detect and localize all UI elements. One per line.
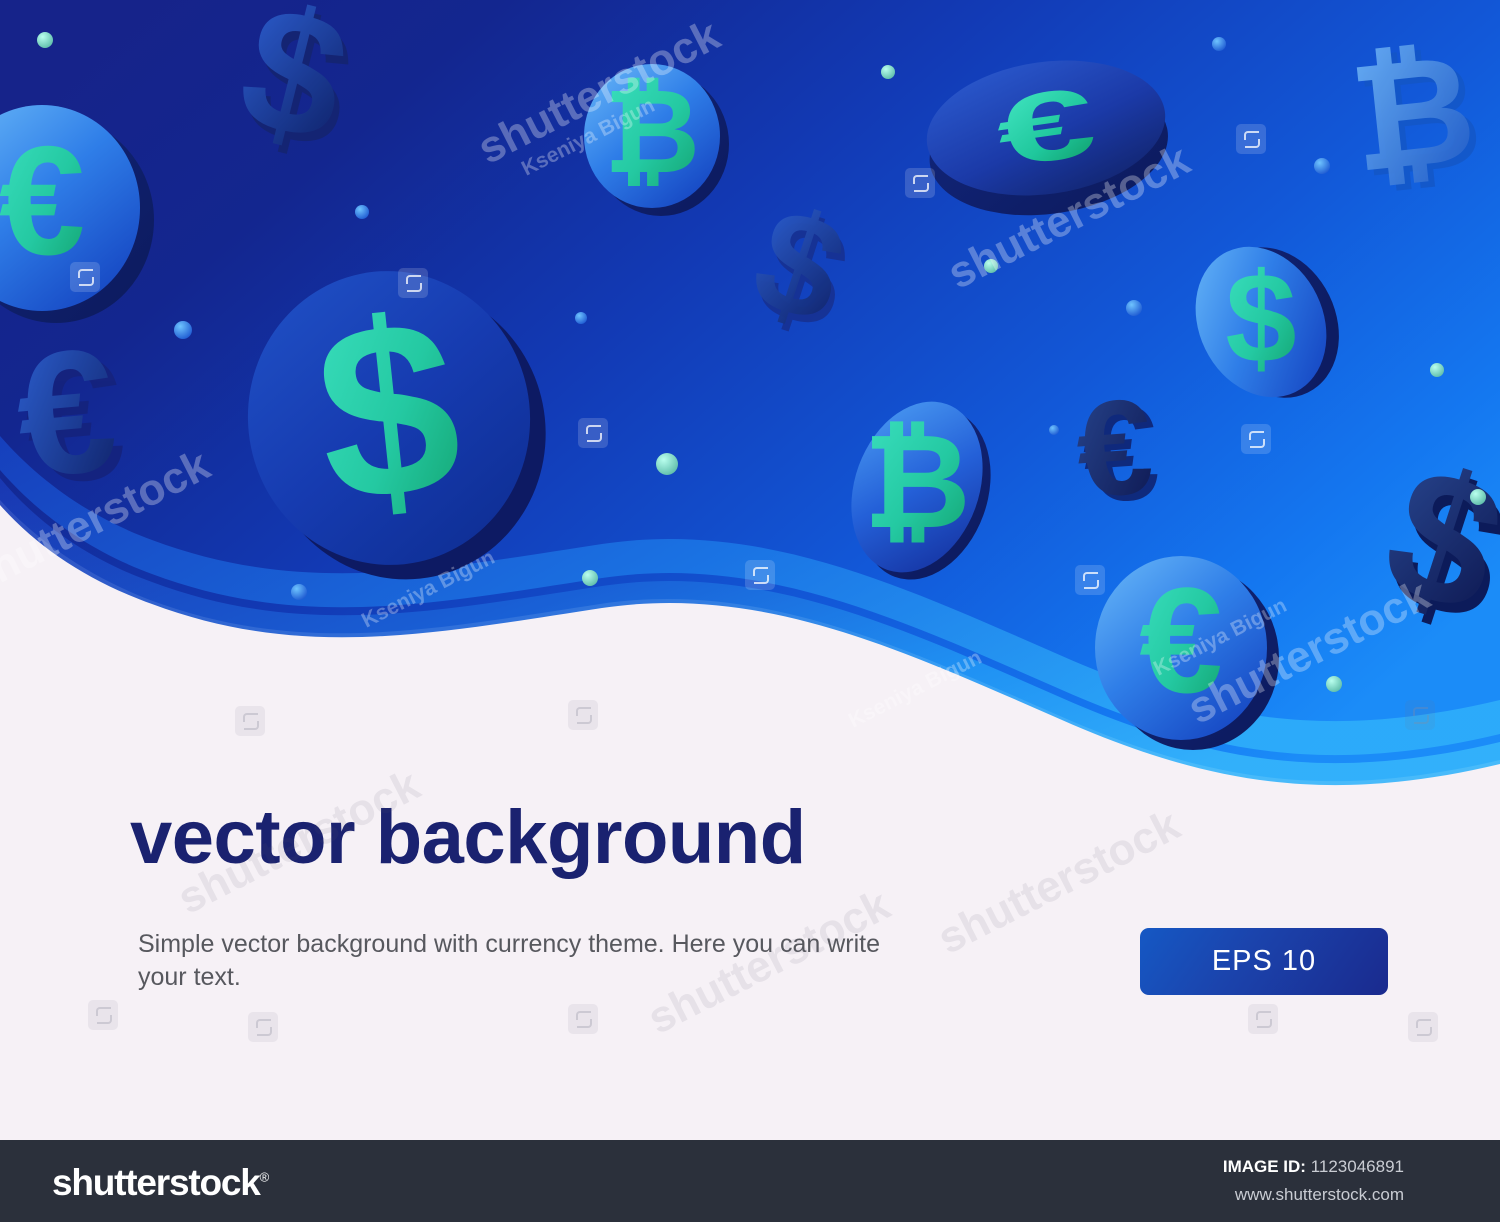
ghost-bitcoin-top-right: ₿ ₿ xyxy=(1343,22,1489,208)
svg-text:€: € xyxy=(1072,370,1157,526)
image-id-label: IMAGE ID: xyxy=(1223,1157,1306,1176)
dollar-glyph: $ xyxy=(305,265,471,556)
ghost-euro-right: € € xyxy=(1072,370,1164,532)
shutterstock-footer: shutterstock® IMAGE ID: 1123046891 www.s… xyxy=(0,1140,1500,1222)
euro-glyph: € xyxy=(0,114,85,287)
shutterstock-wordmark: shutterstock® xyxy=(52,1162,269,1204)
bitcoin-glyph: ₿ xyxy=(604,66,700,198)
bitcoin-glyph: ₿ xyxy=(863,408,971,555)
eps-badge-button[interactable]: EPS 10 xyxy=(1140,928,1388,995)
shutterstock-url: www.shutterstock.com xyxy=(1235,1185,1404,1205)
registered-mark: ® xyxy=(260,1170,270,1185)
wordmark-text: shutterstock xyxy=(52,1162,260,1203)
image-id-value: 1123046891 xyxy=(1311,1157,1404,1176)
image-id-line: IMAGE ID: 1123046891 xyxy=(1223,1157,1404,1177)
ghost-euro-left: € € xyxy=(9,311,132,522)
artwork-stage: $ $ ₿ ₿ $ $ € € xyxy=(0,0,1500,1140)
euro-glyph: € xyxy=(990,66,1102,188)
svg-text:€: € xyxy=(9,312,123,515)
dollar-glyph: $ xyxy=(1225,247,1296,390)
euro-glyph: € xyxy=(1139,556,1222,724)
svg-text:₿: ₿ xyxy=(1343,23,1482,203)
